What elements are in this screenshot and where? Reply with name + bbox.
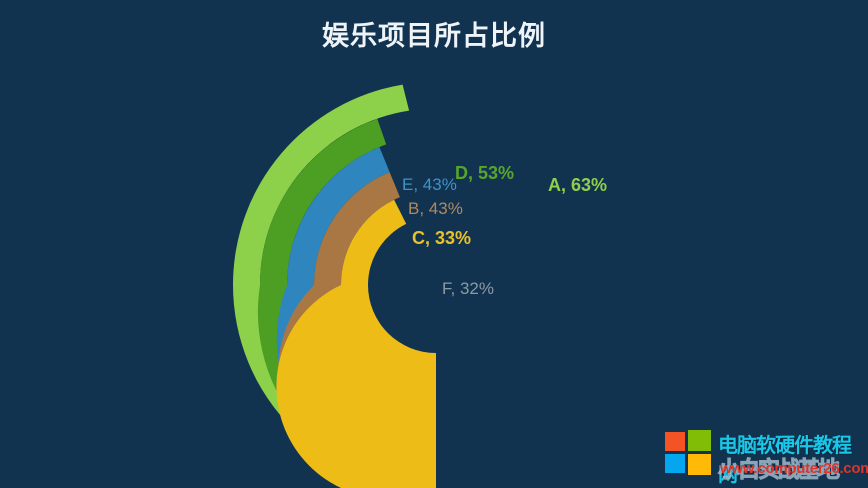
- data-label-c: C, 33%: [412, 228, 471, 249]
- watermark-url: www.computer26.com: [720, 460, 868, 477]
- ring-group: [233, 85, 436, 488]
- slide-canvas: 娱乐项目所占比例 A, 63% D, 53% E, 43% B, 43% C, …: [0, 0, 868, 488]
- data-label-e: E, 43%: [402, 175, 457, 195]
- data-label-a: A, 63%: [548, 175, 607, 196]
- data-label-f: F, 32%: [442, 279, 494, 299]
- data-label-b: B, 43%: [408, 199, 463, 219]
- windows-logo-icon: [665, 430, 711, 476]
- data-label-d: D, 53%: [455, 163, 514, 184]
- watermark: 电脑软硬件教程网 小白实战基地 www.computer26.com: [662, 424, 862, 484]
- radial-bar-chart: A, 63% D, 53% E, 43% B, 43% C, 33% F, 32…: [0, 0, 868, 488]
